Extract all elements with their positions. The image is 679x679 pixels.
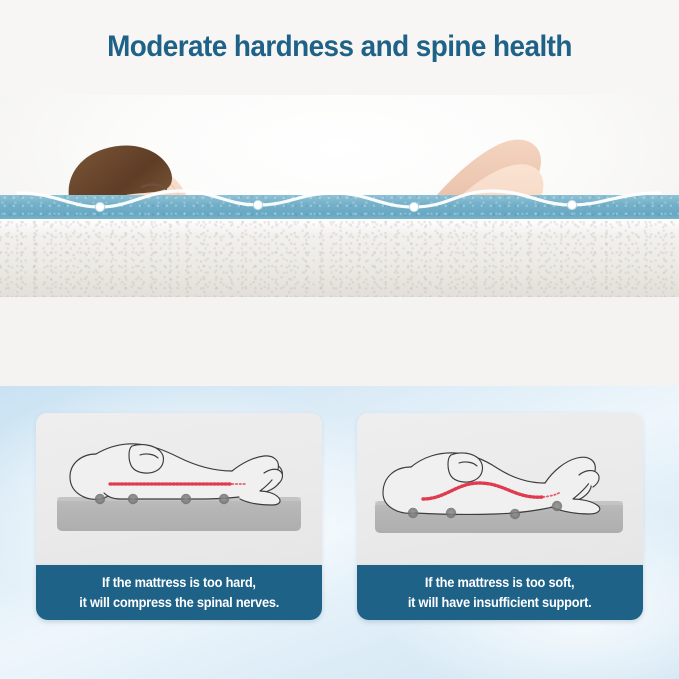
pressure-point [181, 494, 191, 504]
wave-dot [409, 202, 418, 211]
pressure-point [552, 501, 562, 511]
wave-dot [567, 200, 576, 209]
pressure-point [128, 494, 138, 504]
page-title: Moderate hardness and spine health [24, 30, 655, 64]
caption-line-1: If the mattress is too hard, [102, 573, 256, 592]
caption-line-2: it will have insufficient support. [408, 593, 592, 612]
mattress-base-layer [0, 219, 679, 297]
panel-too-soft: If the mattress is too soft, it will hav… [357, 413, 643, 620]
baby-sinking-into-soft-mattress-diagram [357, 413, 643, 565]
caption-line-2: it will compress the spinal nerves. [79, 593, 279, 612]
hero-section: Moderate hardness and spine health [0, 0, 679, 386]
mattress-wave-line [0, 181, 679, 215]
pressure-point [95, 494, 105, 504]
caption-line-1: If the mattress is too soft, [425, 573, 574, 592]
panel-too-hard: If the mattress is too hard, it will com… [36, 413, 322, 620]
pressure-point [219, 494, 229, 504]
hero-scene [0, 95, 679, 386]
baby-on-hard-flat-mattress-diagram [36, 413, 322, 565]
infographic-page: Moderate hardness and spine health [0, 0, 679, 679]
wave-dot [253, 200, 262, 209]
pressure-point [510, 509, 520, 519]
caption-too-soft: If the mattress is too soft, it will hav… [357, 565, 643, 620]
comparison-section: If the mattress is too hard, it will com… [0, 386, 679, 679]
caption-too-hard: If the mattress is too hard, it will com… [36, 565, 322, 620]
panel-too-hard-card [36, 413, 322, 565]
wave-dot [95, 202, 104, 211]
pressure-point [446, 508, 456, 518]
pressure-point [408, 508, 418, 518]
panel-too-soft-card [357, 413, 643, 565]
